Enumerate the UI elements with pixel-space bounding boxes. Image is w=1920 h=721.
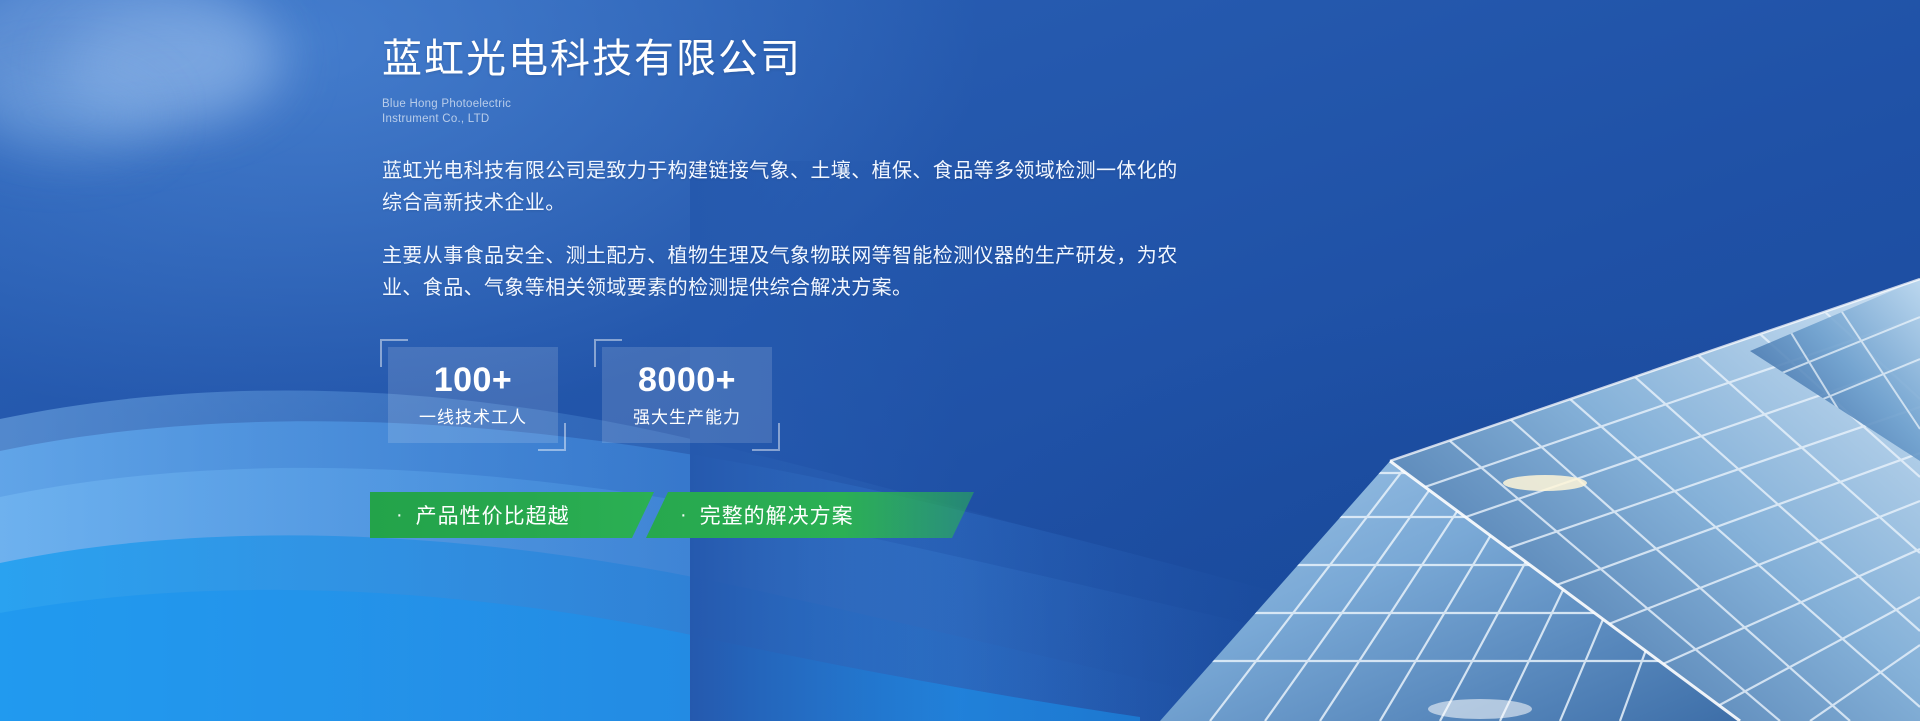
stat-value: 100+: [434, 363, 513, 397]
bullet-dot-icon: ·: [396, 505, 404, 525]
feature-tags: · 产品性价比超越 · 完整的解决方案: [370, 492, 974, 538]
brand-english-subtitle: Blue Hong Photoelectric Instrument Co., …: [382, 97, 1562, 127]
feature-tag-label: 完整的解决方案: [700, 500, 854, 530]
stats-group: 100+ 一线技术工人 8000+ 强大生产能力: [388, 347, 1562, 443]
hero-content: 蓝虹光电科技有限公司 Blue Hong Photoelectric Instr…: [382, 36, 1562, 443]
feature-tag-label: 产品性价比超越: [416, 500, 570, 530]
stat-value: 8000+: [638, 363, 736, 397]
hero-banner: 蓝虹光电科技有限公司 Blue Hong Photoelectric Instr…: [0, 0, 1920, 721]
brand-english-line-1: Blue Hong Photoelectric: [382, 97, 1562, 112]
stat-label: 强大生产能力: [633, 409, 741, 426]
intro-paragraph-1: 蓝虹光电科技有限公司是致力于构建链接气象、土壤、植保、食品等多领域检测一体化的综…: [382, 155, 1182, 220]
feature-tag-value[interactable]: · 产品性价比超越: [370, 492, 654, 538]
feature-tag-solution[interactable]: · 完整的解决方案: [646, 492, 974, 538]
stat-card-capacity: 8000+ 强大生产能力: [602, 347, 772, 443]
brand-english-line-2: Instrument Co., LTD: [382, 112, 1562, 127]
bullet-dot-icon: ·: [680, 505, 688, 525]
cloud-blob-icon: [0, 0, 270, 140]
stat-card-workers: 100+ 一线技术工人: [388, 347, 558, 443]
cloud-blob-icon: [60, 10, 290, 120]
intro-paragraph-2: 主要从事食品安全、测土配方、植物生理及气象物联网等智能检测仪器的生产研发，为农业…: [382, 240, 1182, 305]
cloud-blob-icon: [0, 70, 160, 160]
page-title: 蓝虹光电科技有限公司: [382, 36, 1562, 83]
stat-label: 一线技术工人: [419, 409, 527, 426]
